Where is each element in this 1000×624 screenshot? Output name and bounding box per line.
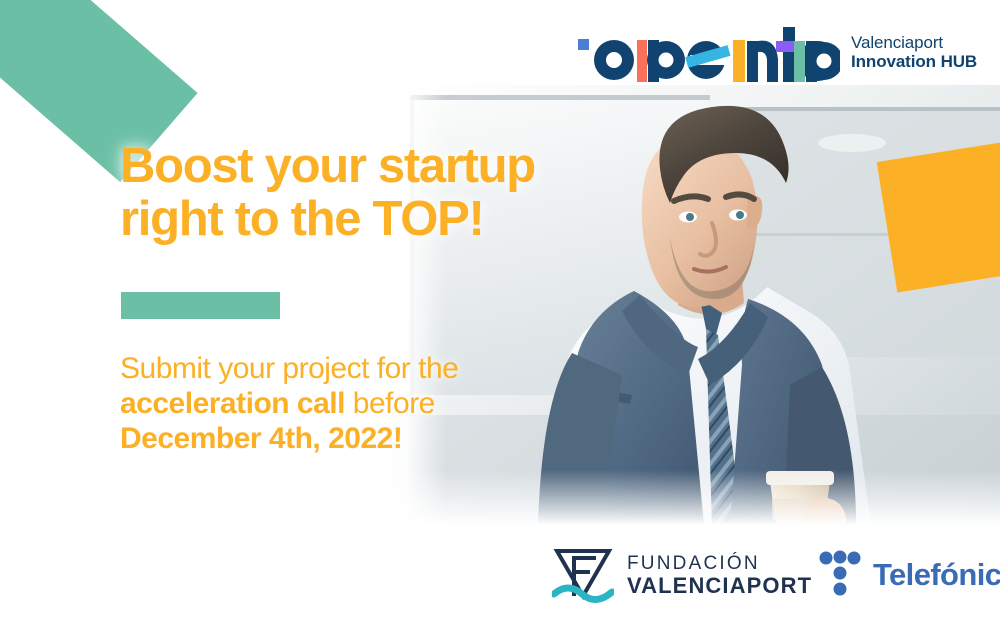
- fundacion-line1: FUNDACIÓN: [627, 554, 812, 575]
- fundacion-valenciaport-wordmark: FUNDACIÓN VALENCIAPORT: [627, 554, 812, 598]
- subcopy-bold-acceleration-call: acceleration call: [120, 387, 345, 420]
- partner-logo-bar: FUNDACIÓN VALENCIAPORT Telefónica: [0, 536, 1000, 624]
- brand-tagline-line1: Valenciaport: [851, 33, 977, 52]
- subcopy-bold-deadline: December 4th, 2022!: [120, 422, 402, 455]
- telefonica-logo: Telefónica: [818, 550, 1000, 600]
- page-title: Boost your startup right to the TOP!: [120, 140, 535, 246]
- brand-tagline-line2: Innovation HUB: [851, 52, 977, 71]
- decorative-teal-divider-bar: [121, 292, 280, 319]
- subcopy-part2: before: [345, 387, 435, 420]
- fundacion-line2: VALENCIAPORT: [627, 574, 812, 598]
- brand-tagline: Valenciaport Innovation HUB: [851, 27, 977, 72]
- decorative-orange-shape: [877, 136, 1000, 293]
- subtitle-copy: Submit your project for the acceleration…: [120, 351, 490, 456]
- telefonica-dot-t-icon: [818, 550, 862, 600]
- fv-monogram-icon: [552, 546, 614, 606]
- subcopy-part1: Submit your project for the: [120, 352, 458, 385]
- fundacion-valenciaport-logo: FUNDACIÓN VALENCIAPORT: [552, 546, 812, 606]
- telefonica-wordmark: Telefónica: [873, 557, 1000, 593]
- banner-canvas: Valenciaport Innovation HUB Boost your s…: [0, 0, 1000, 624]
- opentop-wordmark-icon: [578, 27, 840, 83]
- opentop-logo-lockup: Valenciaport Innovation HUB: [578, 27, 977, 83]
